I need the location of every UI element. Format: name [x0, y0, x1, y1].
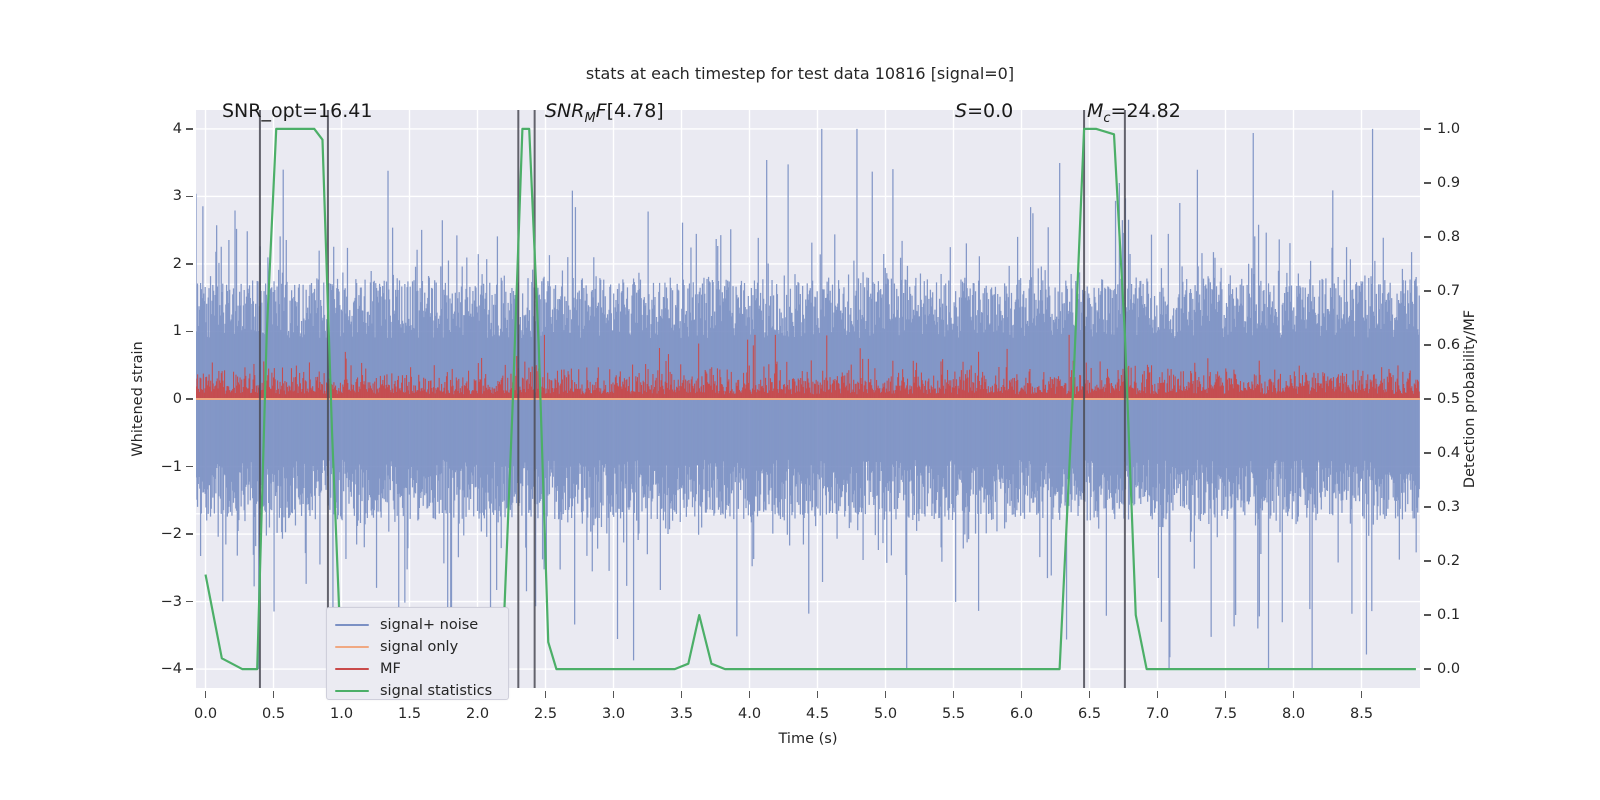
y-tick-label-left: −3	[161, 594, 182, 610]
chart-title: stats at each timestep for test data 108…	[0, 64, 1600, 83]
x-tick-mark	[1021, 691, 1023, 698]
legend-swatch-signal-noise	[335, 624, 369, 626]
y-tick-label-left: 3	[173, 188, 182, 204]
y-tick-mark-left	[186, 128, 193, 130]
y-tick-mark-left	[186, 668, 193, 670]
annotation-s-symbol: S	[955, 100, 967, 122]
legend-label-mf: MF	[380, 661, 401, 677]
x-tick-mark	[205, 691, 207, 698]
x-tick-mark	[749, 691, 751, 698]
chart-legend: signal+ noise signal only MF signal stat…	[326, 607, 509, 700]
x-tick-label: 7.0	[1146, 706, 1169, 722]
y-tick-label-right: 0.2	[1437, 553, 1460, 569]
plot-area	[196, 110, 1420, 688]
y-tick-mark-right	[1424, 182, 1431, 184]
x-tick-label: 1.5	[398, 706, 421, 722]
x-tick-label: 8.5	[1350, 706, 1373, 722]
y-tick-label-left: 0	[173, 391, 182, 407]
y-tick-label-right: 0.1	[1437, 607, 1460, 623]
x-tick-label: 5.0	[874, 706, 897, 722]
y-tick-mark-left	[186, 331, 193, 333]
y-tick-mark-right	[1424, 398, 1431, 400]
legend-swatch-mf	[335, 668, 369, 670]
y-axis-label-right: Detection probability/MF	[1462, 310, 1478, 488]
x-tick-label: 0.0	[194, 706, 217, 722]
y-tick-mark-right	[1424, 452, 1431, 454]
x-tick-mark	[1089, 691, 1091, 698]
y-tick-mark-left	[186, 196, 193, 198]
y-tick-label-right: 0.0	[1437, 661, 1460, 677]
x-axis-label: Time (s)	[779, 731, 838, 747]
y-tick-label-left: −4	[161, 661, 182, 677]
y-axis-label-left: Whitened strain	[130, 341, 146, 456]
y-tick-label-left: −2	[161, 526, 182, 542]
x-tick-label: 0.5	[262, 706, 285, 722]
legend-item: signal statistics	[335, 680, 500, 702]
y-tick-label-right: 0.6	[1437, 337, 1460, 353]
x-tick-label: 3.0	[602, 706, 625, 722]
x-tick-label: 4.5	[806, 706, 829, 722]
legend-label-signal-statistics: signal statistics	[380, 683, 492, 699]
legend-label-signal-noise: signal+ noise	[380, 617, 478, 633]
legend-item: MF	[335, 658, 500, 680]
y-tick-mark-left	[186, 263, 193, 265]
y-tick-label-right: 0.9	[1437, 175, 1460, 191]
annotation-snr-mf-value: [4.78]	[607, 100, 664, 122]
annotation-chirp-mass: Mc=24.82	[1087, 100, 1181, 126]
x-tick-label: 2.0	[466, 706, 489, 722]
y-tick-label-right: 0.5	[1437, 391, 1460, 407]
y-tick-label-left: −1	[161, 459, 182, 475]
y-tick-label-right: 0.8	[1437, 229, 1460, 245]
annotation-s-value: 0.0	[983, 100, 1013, 122]
y-tick-mark-left	[186, 398, 193, 400]
y-tick-label-left: 4	[173, 121, 182, 137]
y-tick-label-right: 1.0	[1437, 121, 1460, 137]
x-tick-mark	[1225, 691, 1227, 698]
y-tick-mark-right	[1424, 344, 1431, 346]
annotation-s-stat: S=0.0	[955, 100, 1013, 122]
y-tick-mark-left	[186, 466, 193, 468]
x-tick-label: 4.0	[738, 706, 761, 722]
legend-item: signal only	[335, 636, 500, 658]
x-tick-label: 6.0	[1010, 706, 1033, 722]
figure-root: stats at each timestep for test data 108…	[0, 0, 1600, 800]
x-tick-label: 8.0	[1282, 706, 1305, 722]
annotation-mc-symbol: Mc	[1087, 100, 1111, 122]
x-tick-mark	[953, 691, 955, 698]
y-tick-mark-right	[1424, 236, 1431, 238]
x-tick-label: 5.5	[942, 706, 965, 722]
annotation-snr-mf: SNRMF[4.78]	[545, 100, 664, 126]
x-tick-mark	[1361, 691, 1363, 698]
x-tick-label: 7.5	[1214, 706, 1237, 722]
y-tick-mark-left	[186, 601, 193, 603]
legend-swatch-signal-only	[335, 646, 369, 648]
y-tick-label-left: 1	[173, 323, 182, 339]
y-tick-mark-right	[1424, 560, 1431, 562]
annotation-mc-value: 24.82	[1126, 100, 1180, 122]
y-tick-mark-right	[1424, 506, 1431, 508]
y-tick-label-left: 2	[173, 256, 182, 272]
x-tick-mark	[273, 691, 275, 698]
x-tick-mark	[817, 691, 819, 698]
x-tick-mark	[1157, 691, 1159, 698]
x-tick-mark	[1293, 691, 1295, 698]
legend-swatch-signal-statistics	[335, 690, 369, 692]
x-tick-mark	[885, 691, 887, 698]
y-tick-mark-right	[1424, 668, 1431, 670]
y-tick-mark-right	[1424, 128, 1431, 130]
y-tick-mark-right	[1424, 290, 1431, 292]
x-tick-label: 1.0	[330, 706, 353, 722]
y-tick-mark-right	[1424, 614, 1431, 616]
legend-item: signal+ noise	[335, 614, 500, 636]
x-tick-mark	[545, 691, 547, 698]
x-tick-label: 6.5	[1078, 706, 1101, 722]
y-tick-label-right: 0.7	[1437, 283, 1460, 299]
x-tick-label: 3.5	[670, 706, 693, 722]
y-tick-label-right: 0.4	[1437, 445, 1460, 461]
x-tick-mark	[613, 691, 615, 698]
x-tick-mark	[681, 691, 683, 698]
annotation-snr-mf-math: SNRMF	[545, 100, 607, 122]
annotation-snr-opt: SNR_opt=16.41	[222, 100, 372, 122]
y-tick-label-right: 0.3	[1437, 499, 1460, 515]
chart-canvas	[196, 110, 1420, 688]
y-tick-mark-left	[186, 533, 193, 535]
legend-label-signal-only: signal only	[380, 639, 458, 655]
x-tick-label: 2.5	[534, 706, 557, 722]
